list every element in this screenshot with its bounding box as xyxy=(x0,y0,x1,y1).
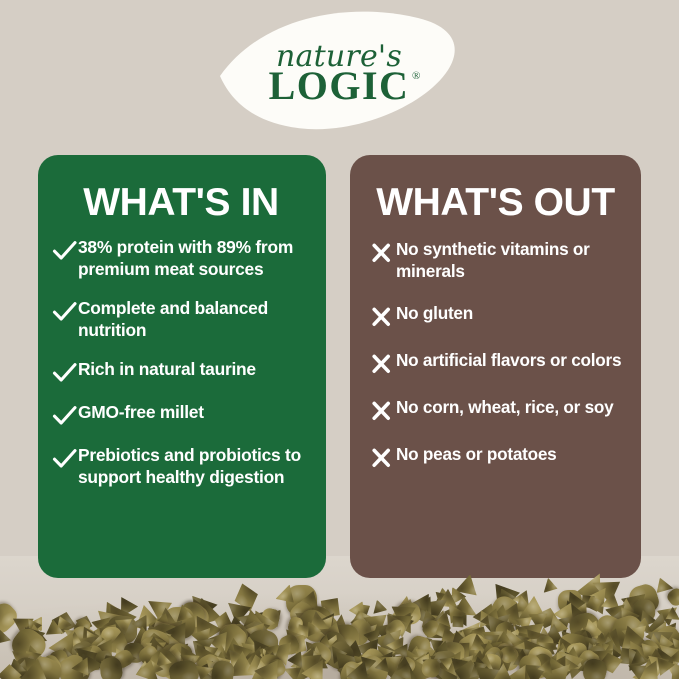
x-mark-icon xyxy=(370,399,396,423)
x-mark-icon xyxy=(370,241,396,265)
logo-wordmark: LOGIC xyxy=(246,66,432,106)
list-item-label: No artificial flavors or colors xyxy=(396,350,625,372)
whats-in-list: 38% protein with 89% from premium meat s… xyxy=(38,237,326,506)
list-item: No artificial flavors or colors xyxy=(350,350,641,376)
infographic-canvas: nature's LOGIC ® WHAT'S IN 38% protein w… xyxy=(0,0,679,679)
panel-whats-out: WHAT'S OUT No synthetic vitamins or mine… xyxy=(350,155,641,578)
list-item-label: Prebiotics and probiotics to support hea… xyxy=(78,445,310,489)
registered-trademark-icon: ® xyxy=(412,70,420,82)
panel-title-whats-out: WHAT'S OUT xyxy=(350,183,641,222)
list-item: 38% protein with 89% from premium meat s… xyxy=(38,237,326,281)
list-item-label: No corn, wheat, rice, or soy xyxy=(396,397,625,419)
panel-whats-in: WHAT'S IN 38% protein with 89% from prem… xyxy=(38,155,326,578)
list-item: Rich in natural taurine xyxy=(38,359,326,385)
panel-title-whats-in: WHAT'S IN xyxy=(38,183,326,222)
brand-logo: nature's LOGIC ® xyxy=(212,8,462,132)
list-item: GMO-free millet xyxy=(38,402,326,428)
whats-out-list: No synthetic vitamins or mineralsNo glut… xyxy=(350,239,641,491)
list-item: Complete and balanced nutrition xyxy=(38,298,326,342)
list-item-label: Rich in natural taurine xyxy=(78,359,310,381)
checkmark-icon xyxy=(52,239,78,263)
checkmark-icon xyxy=(52,447,78,471)
list-item: No corn, wheat, rice, or soy xyxy=(350,397,641,423)
list-item: No peas or potatoes xyxy=(350,444,641,470)
list-item-label: No gluten xyxy=(396,303,625,325)
checkmark-icon xyxy=(52,300,78,324)
x-mark-icon xyxy=(370,446,396,470)
list-item: No gluten xyxy=(350,303,641,329)
list-item-label: 38% protein with 89% from premium meat s… xyxy=(78,237,310,281)
checkmark-icon xyxy=(52,404,78,428)
x-mark-icon xyxy=(370,352,396,376)
checkmark-icon xyxy=(52,361,78,385)
list-item-label: Complete and balanced nutrition xyxy=(78,298,310,342)
list-item-label: No peas or potatoes xyxy=(396,444,625,466)
list-item-label: No synthetic vitamins or minerals xyxy=(396,239,625,282)
list-item: Prebiotics and probiotics to support hea… xyxy=(38,445,326,489)
list-item-label: GMO-free millet xyxy=(78,402,310,424)
x-mark-icon xyxy=(370,305,396,329)
list-item: No synthetic vitamins or minerals xyxy=(350,239,641,282)
